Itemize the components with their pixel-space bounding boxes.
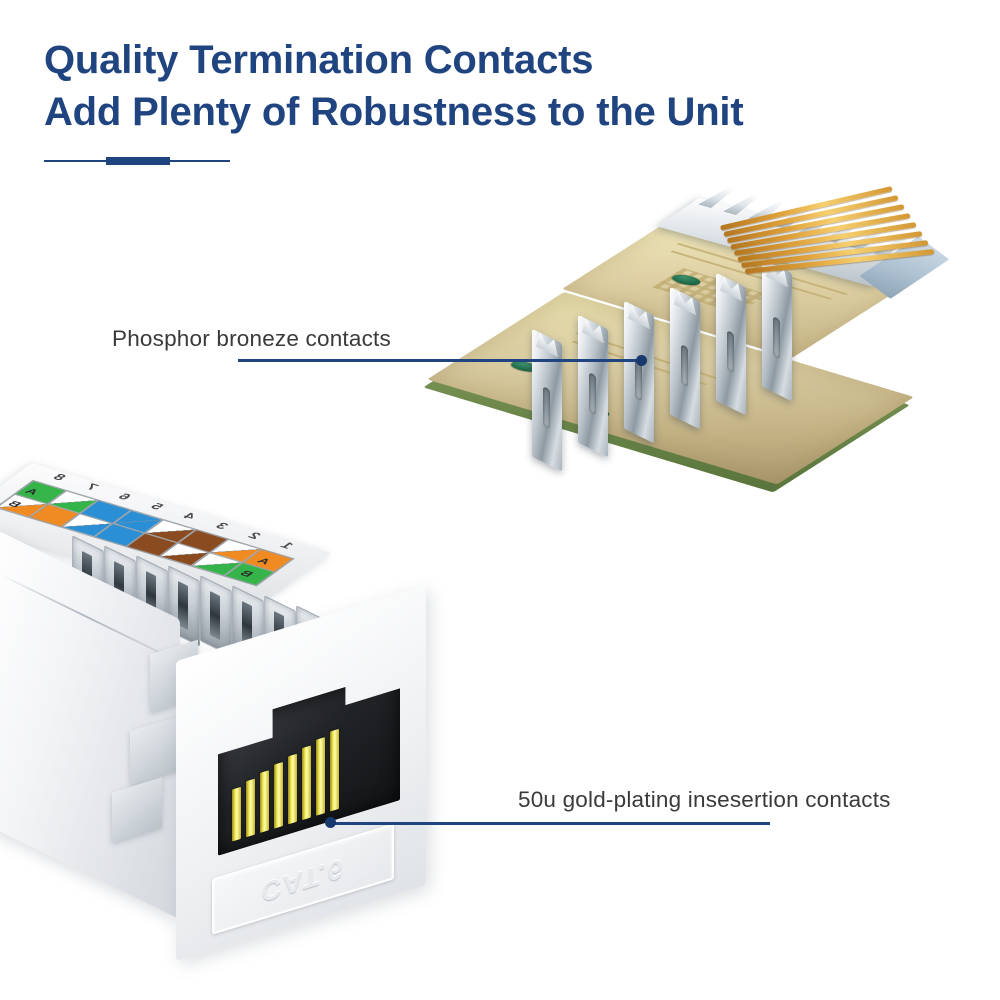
gold-pin xyxy=(274,762,283,829)
gold-pin xyxy=(330,729,339,812)
contact-blade xyxy=(716,273,746,416)
blade-slot xyxy=(543,386,550,429)
rule-thick-bar xyxy=(106,157,170,165)
contact-blade xyxy=(532,329,562,472)
callout-label-gold-plating: 50u gold-plating insesertion contacts xyxy=(518,787,891,813)
callout-endpoint-dot-1 xyxy=(636,355,647,366)
callout-leader-line-2 xyxy=(330,822,770,825)
callout-label-phosphor-bronze: Phosphor broneze contacts xyxy=(112,326,391,352)
rj45-keystone-jack: 12345678 A B A B xyxy=(0,455,500,955)
callout-endpoint-dot-2 xyxy=(325,817,336,828)
gold-pin xyxy=(232,787,241,842)
gold-pin xyxy=(302,745,311,820)
gold-pin xyxy=(288,754,297,825)
headline-line-1: Quality Termination Contacts xyxy=(44,38,593,82)
contact-blade xyxy=(624,301,654,444)
blade-slot xyxy=(589,372,596,415)
gold-pin xyxy=(260,770,269,833)
gold-pin xyxy=(246,779,255,838)
contact-blade xyxy=(578,315,608,458)
blade-slot xyxy=(773,316,780,359)
callout-leader-line-1 xyxy=(238,359,642,362)
contact-blade xyxy=(670,287,700,430)
gold-pin xyxy=(316,737,325,816)
contact-blade xyxy=(762,259,792,402)
termination-contact-assembly xyxy=(520,150,990,520)
page-title: Quality Termination Contacts Add Plenty … xyxy=(44,34,924,138)
title-underline-rule xyxy=(44,156,230,166)
idc-blade xyxy=(210,591,220,640)
blade-slot xyxy=(681,344,688,387)
blade-slot xyxy=(727,330,734,373)
headline-line-2: Add Plenty of Robustness to the Unit xyxy=(44,86,924,138)
product-feature-image: Quality Termination Contacts Add Plenty … xyxy=(0,0,1000,1000)
